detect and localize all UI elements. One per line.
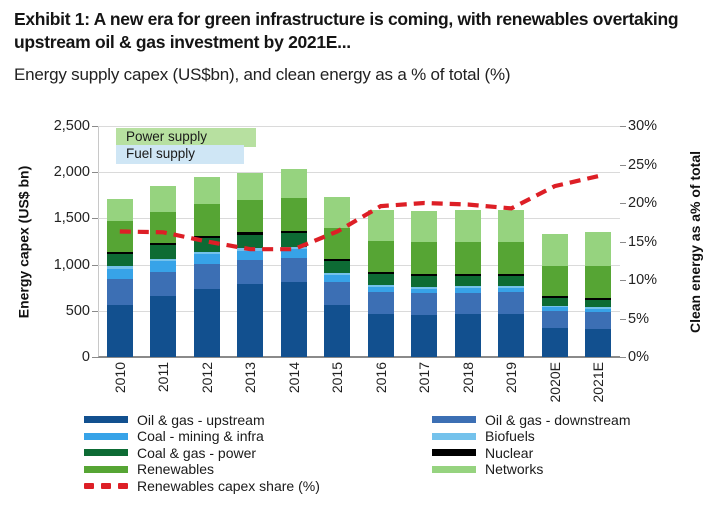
y-axis-left-tick-label: 2,500: [34, 119, 90, 134]
x-axis-label-text: 2016: [373, 362, 389, 393]
x-axis-label-text: 2012: [199, 362, 215, 393]
page-title: Exhibit 1: A new era for green infrastru…: [14, 8, 708, 54]
page-subtitle: Energy supply capex (US$bn), and clean e…: [14, 64, 708, 85]
y2-tick-mark: [620, 319, 626, 320]
x-axis-label-text: 2013: [242, 362, 258, 393]
x-axis-label-text: 2014: [286, 362, 302, 393]
legend-label: Renewables: [137, 462, 214, 476]
y-axis-right-tick-label: 10%: [628, 273, 676, 288]
y-axis-right-title: Clean energy as a% of total: [684, 126, 706, 357]
plot-area: Power supplyFuel supply: [98, 126, 620, 357]
legend-item-coal-gas-power[interactable]: Coal & gas - power: [84, 445, 256, 460]
legend-label: Networks: [485, 462, 543, 476]
legend-item-oil-gas-upstream[interactable]: Oil & gas - upstream: [84, 412, 265, 427]
legend-label: Coal - mining & infra: [137, 429, 264, 443]
x-axis-label-text: 2017: [416, 362, 432, 393]
legend-item-nuclear[interactable]: Nuclear: [432, 445, 533, 460]
legend-label: Oil & gas - upstream: [137, 413, 265, 427]
legend-color-swatch: [84, 449, 128, 456]
x-axis-label-text: 2015: [329, 362, 345, 393]
y-axis-right-tick-label: 5%: [628, 312, 676, 327]
x-axis-label-text: 2011: [155, 362, 171, 392]
y2-tick-mark: [620, 165, 626, 166]
legend-item-renewables-capex-share[interactable]: Renewables capex share (%): [84, 478, 320, 493]
y-axis-left-tick-label: 1,500: [34, 211, 90, 226]
x-axis-label-text: 2019: [503, 362, 519, 393]
y-axis-right-tick-label: 25%: [628, 158, 676, 173]
legend-color-swatch: [432, 416, 476, 423]
legend-item-networks[interactable]: Networks: [432, 462, 543, 477]
line-renewables-capex-share: [120, 176, 599, 249]
legend-label: Nuclear: [485, 446, 533, 460]
y-axis-left-tick-label: 1,000: [34, 258, 90, 273]
y2-tick-mark: [620, 280, 626, 281]
legend-label: Renewables capex share (%): [137, 479, 320, 493]
legend-label: Oil & gas - downstream: [485, 413, 631, 427]
legend-color-swatch: [432, 449, 476, 456]
legend-label: Coal & gas - power: [137, 446, 256, 460]
y2-tick-mark: [620, 357, 626, 358]
y-axis-right-title-text: Clean energy as a% of total: [687, 150, 703, 332]
y-axis-right-tick-label: 15%: [628, 235, 676, 250]
y-axis-right-tick-label: 20%: [628, 196, 676, 211]
legend-item-oil-gas-downstream[interactable]: Oil & gas - downstream: [432, 412, 631, 427]
y2-tick-mark: [620, 126, 626, 127]
annotation-fuel-supply: Fuel supply: [116, 145, 244, 164]
chart-legend: Oil & gas - upstreamCoal - mining & infr…: [84, 412, 644, 500]
y-tick-mark: [92, 357, 98, 358]
y-axis-left-tick-label: 0: [34, 350, 90, 365]
legend-color-swatch: [84, 433, 128, 440]
x-axis-label-text: 2010: [112, 362, 128, 393]
x-axis-label-text: 2018: [460, 362, 476, 393]
legend-color-swatch: [84, 466, 128, 473]
y-axis-right-tick-label: 0%: [628, 350, 676, 365]
y-axis-left-tick-label: 2,000: [34, 165, 90, 180]
legend-item-renewables[interactable]: Renewables: [84, 462, 214, 477]
x-axis-label-text: 2021E: [590, 362, 606, 402]
y-axis-left-title-text: Energy capex (US$ bn): [15, 165, 31, 318]
legend-dash-swatch: [84, 482, 128, 490]
x-axis-label-text: 2020E: [547, 362, 563, 402]
y-axis-left-tick-label: 500: [34, 304, 90, 319]
legend-color-swatch: [432, 433, 476, 440]
gridline-y-0: [98, 357, 620, 358]
y2-tick-mark: [620, 242, 626, 243]
legend-color-swatch: [84, 416, 128, 423]
y-axis-left-title: Energy capex (US$ bn): [12, 126, 34, 357]
legend-color-swatch: [432, 466, 476, 473]
legend-item-biofuels[interactable]: Biofuels: [432, 429, 535, 444]
y2-tick-mark: [620, 203, 626, 204]
y-axis-right-tick-label: 30%: [628, 119, 676, 134]
legend-item-coal-mining-infra[interactable]: Coal - mining & infra: [84, 429, 264, 444]
legend-label: Biofuels: [485, 429, 535, 443]
